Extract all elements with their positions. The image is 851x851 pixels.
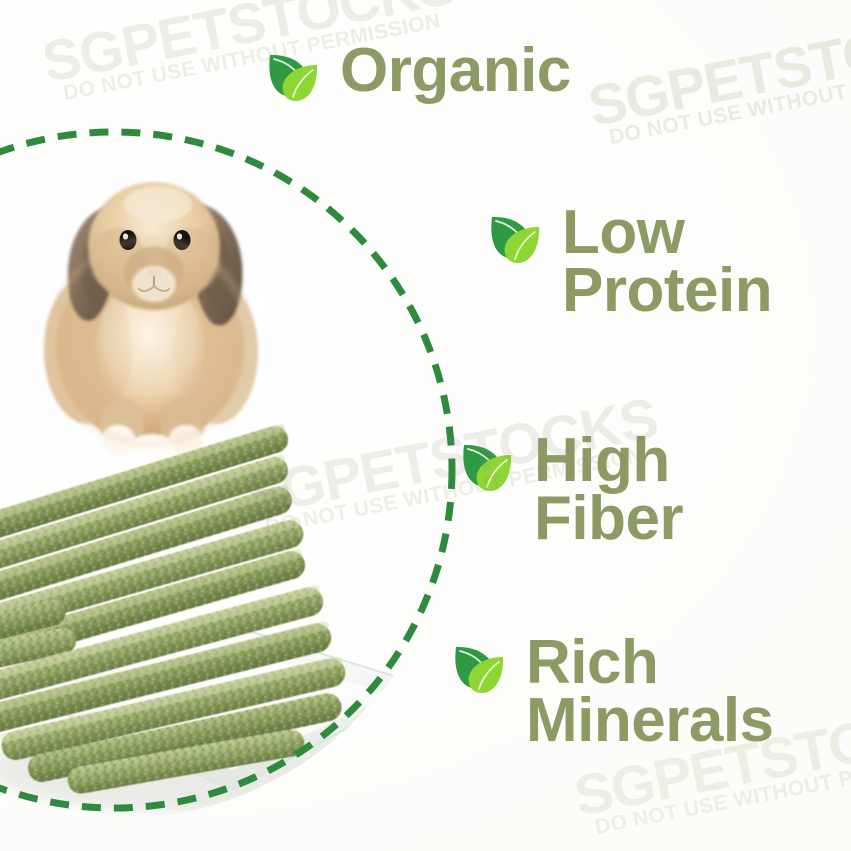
feature-low-protein-line-2: Protein	[562, 262, 772, 320]
feature-rich-minerals-labels: Rich Minerals	[526, 634, 774, 751]
feature-low-protein-line-1: Low	[562, 204, 772, 262]
feature-rich-minerals[interactable]: Rich Minerals	[448, 634, 774, 751]
feature-high-fiber-labels: High Fiber	[534, 432, 683, 549]
feature-high-fiber-line-1: High	[534, 432, 683, 490]
leaf-icon	[262, 46, 324, 108]
feature-low-protein-labels: Low Protein	[562, 204, 772, 321]
feature-organic[interactable]: Organic	[262, 42, 571, 108]
feature-list: Organic Low Protein	[0, 0, 851, 851]
feature-organic-line-1: Organic	[340, 42, 571, 100]
feature-low-protein[interactable]: Low Protein	[484, 204, 772, 321]
leaf-icon	[448, 638, 510, 700]
feature-high-fiber[interactable]: High Fiber	[456, 432, 683, 549]
product-feature-graphic: Organic Low Protein	[0, 0, 851, 851]
leaf-icon	[456, 436, 518, 498]
feature-high-fiber-line-2: Fiber	[534, 490, 683, 548]
feature-organic-labels: Organic	[340, 42, 571, 100]
leaf-icon	[484, 208, 546, 270]
feature-rich-minerals-line-1: Rich	[526, 634, 774, 692]
feature-rich-minerals-line-2: Minerals	[526, 692, 774, 750]
